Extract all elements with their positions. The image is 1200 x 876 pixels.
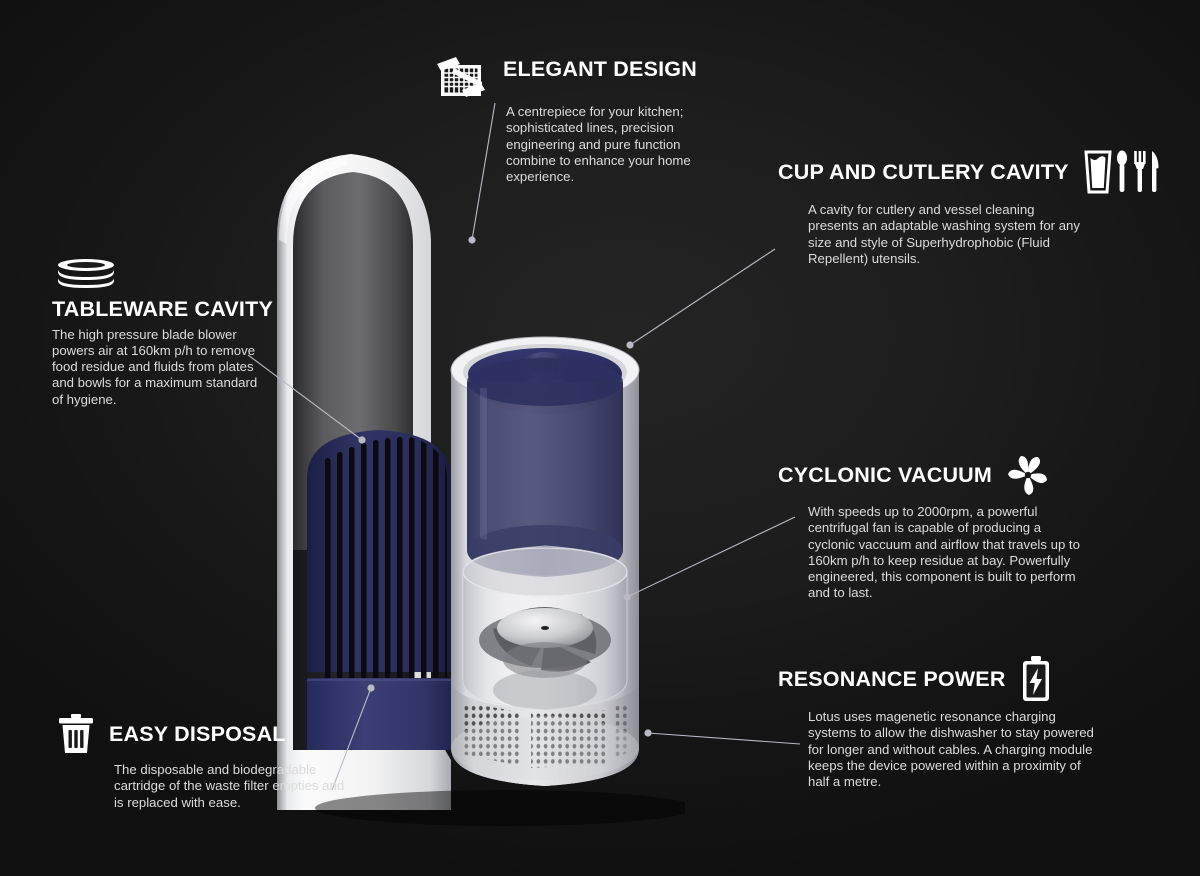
callout-body: With speeds up to 2000rpm, a powerful ce…: [808, 504, 1083, 602]
callout-title: CYCLONIC VACUUM: [778, 464, 992, 487]
callout-header: TABLEWARE CAVITY: [52, 258, 302, 321]
callout-title: TABLEWARE CAVITY: [52, 298, 273, 321]
callout-header: CYCLONIC VACUUM: [778, 452, 1078, 498]
stacked-plates-icon: [52, 258, 120, 292]
callout-body-wrap: Lotus uses magenetic resonance charging …: [778, 709, 1088, 790]
callout-header: RESONANCE POWER: [778, 655, 1088, 703]
callout-body-wrap: A cavity for cutlery and vessel cleaning…: [778, 202, 1078, 267]
callout-easy-disposal: EASY DISPOSAL The disposable and biodegr…: [56, 712, 356, 811]
callout-title: ELEGANT DESIGN: [503, 58, 697, 81]
callout-tableware-cavity: TABLEWARE CAVITY The high pressure blade…: [52, 258, 302, 408]
trash-can-icon: [56, 712, 96, 756]
callout-body-wrap: A centrepiece for your kitchen; sophisti…: [430, 104, 730, 185]
callout-title: EASY DISPOSAL: [109, 723, 286, 746]
blueprint-grid-icon: [430, 52, 490, 104]
infographic-canvas: ELEGANT DESIGN A centrepiece for your ki…: [0, 0, 1200, 876]
callout-title: RESONANCE POWER: [778, 668, 1006, 691]
callout-body-wrap: With speeds up to 2000rpm, a powerful ce…: [778, 504, 1078, 602]
callout-body: A centrepiece for your kitchen; sophisti…: [506, 104, 731, 185]
callout-resonance-power: RESONANCE POWER Lotus uses magenetic res…: [778, 655, 1088, 790]
callout-body: The disposable and biodegradable cartrid…: [114, 762, 352, 811]
glass-and-cutlery-icon: [1082, 148, 1162, 196]
callout-cup-and-cutlery-cavity: CUP AND CUTLERY CAVITY A cavity for cutl…: [778, 148, 1078, 267]
callout-cyclonic-vacuum: CYCLONIC VACUUM With speeds up to 2000rp…: [778, 452, 1078, 602]
transparent-fan-chamber: [463, 546, 627, 710]
callout-body: Lotus uses magenetic resonance charging …: [808, 709, 1098, 790]
callout-header: ELEGANT DESIGN: [430, 52, 730, 104]
callout-body: A cavity for cutlery and vessel cleaning…: [808, 202, 1083, 267]
callout-title: CUP AND CUTLERY CAVITY: [778, 161, 1069, 184]
fan-turbine-icon: [1005, 452, 1051, 498]
callout-body: The high pressure blade blower powers ai…: [52, 327, 267, 408]
battery-bolt-icon: [1019, 655, 1053, 703]
callout-header: EASY DISPOSAL: [56, 712, 356, 756]
callout-header: CUP AND CUTLERY CAVITY: [778, 148, 1078, 196]
callout-elegant-design: ELEGANT DESIGN A centrepiece for your ki…: [430, 52, 730, 185]
callout-body-wrap: The disposable and biodegradable cartrid…: [56, 762, 356, 811]
navy-cylinder: [467, 358, 623, 577]
